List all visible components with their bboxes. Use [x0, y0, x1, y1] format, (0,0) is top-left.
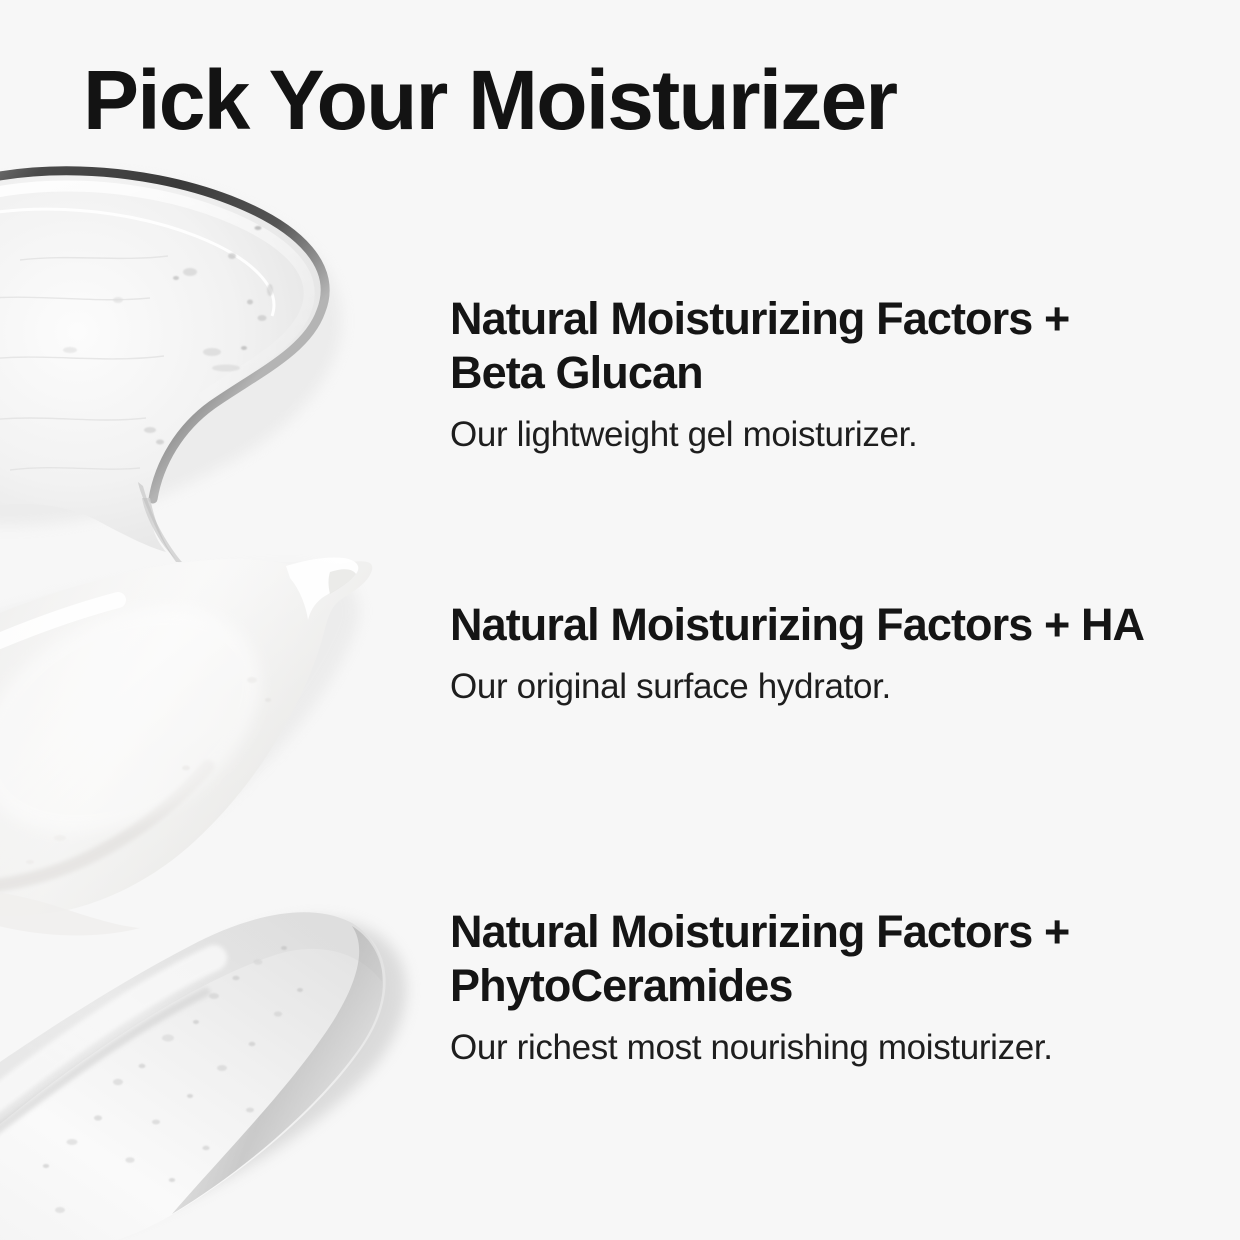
- product-name: Natural Moisturizing Factors + PhytoCera…: [450, 905, 1150, 1013]
- product-item[interactable]: Natural Moisturizing Factors + Beta Gluc…: [450, 292, 1150, 456]
- product-comparison-page: Pick Your Moisturizer Natural Moisturizi…: [0, 0, 1240, 1240]
- product-description: Our lightweight gel moisturizer.: [450, 414, 1150, 456]
- product-description: Our richest most nourishing moisturizer.: [450, 1027, 1150, 1069]
- clear-gel-swatch: [0, 171, 342, 563]
- white-cream-swatch: [0, 557, 372, 916]
- product-item[interactable]: Natural Moisturizing Factors + PhytoCera…: [450, 905, 1150, 1069]
- product-item[interactable]: Natural Moisturizing Factors + HA Our or…: [450, 598, 1150, 708]
- product-name: Natural Moisturizing Factors + Beta Gluc…: [450, 292, 1150, 400]
- page-title: Pick Your Moisturizer: [83, 58, 896, 142]
- product-name: Natural Moisturizing Factors + HA: [450, 598, 1150, 652]
- rich-cream-swatch: [0, 887, 406, 1240]
- product-description: Our original surface hydrator.: [450, 666, 1150, 708]
